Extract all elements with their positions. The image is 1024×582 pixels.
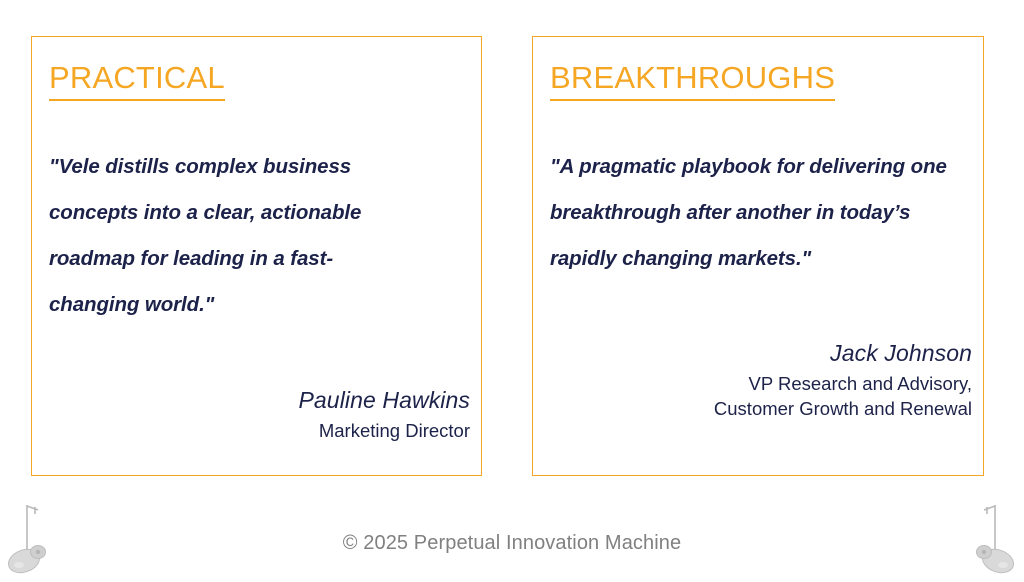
desk-lamp-icon-graphic	[956, 495, 1020, 577]
testimonial-attribution: Jack Johnson VP Research and Advisory, C…	[714, 339, 972, 421]
testimonial-card-breakthroughs: BREAKTHROUGHS "A pragmatic playbook for …	[532, 36, 984, 476]
testimonial-card-practical: PRACTICAL "Vele distills complex busines…	[31, 36, 482, 476]
card-content: BREAKTHROUGHS "A pragmatic playbook for …	[533, 37, 983, 475]
desk-lamp-icon-graphic	[2, 495, 66, 577]
attribution-name: Pauline Hawkins	[298, 386, 470, 415]
card-heading-practical: PRACTICAL	[49, 59, 225, 101]
testimonial-quote: "A pragmatic playbook for delivering one…	[550, 144, 970, 282]
card-content: PRACTICAL "Vele distills complex busines…	[32, 37, 481, 475]
footer-copyright: © 2025 Perpetual Innovation Machine	[0, 532, 1024, 555]
attribution-role: Marketing Director	[298, 419, 470, 443]
testimonial-quote: "Vele distills complex business concepts…	[49, 144, 419, 328]
attribution-name: Jack Johnson	[714, 339, 972, 368]
slide-canvas: PRACTICAL "Vele distills complex busines…	[0, 0, 1024, 577]
card-heading-breakthroughs: BREAKTHROUGHS	[550, 59, 835, 101]
attribution-role: VP Research and Advisory, Customer Growt…	[714, 372, 972, 421]
desk-lamp-icon	[2, 495, 66, 577]
testimonial-attribution: Pauline Hawkins Marketing Director	[298, 386, 470, 443]
desk-lamp-icon	[956, 495, 1020, 577]
